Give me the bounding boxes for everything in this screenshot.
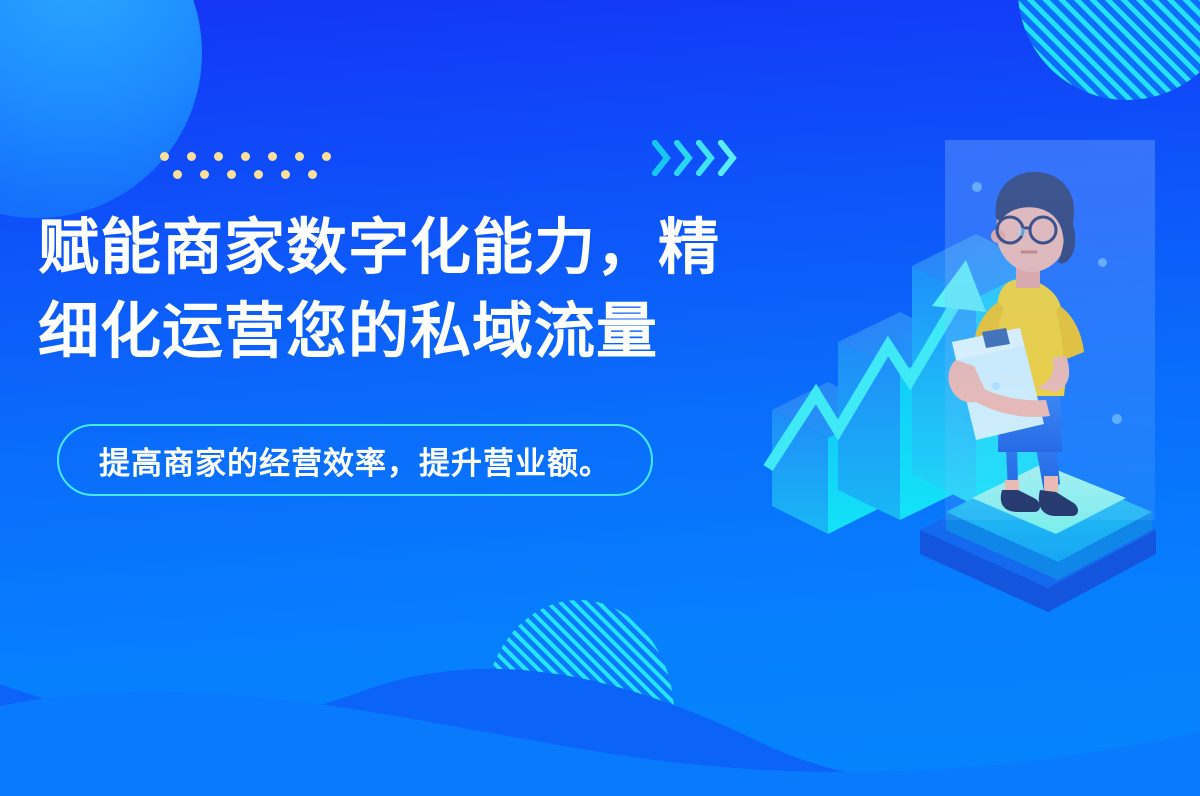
promo-banner: 赋能商家数字化能力，精 细化运营您的私域流量 提高商家的经营效率，提升营业额。 <box>0 0 1200 796</box>
dot <box>295 152 304 161</box>
dot <box>268 152 277 161</box>
striped-circle-top-right-icon <box>1018 0 1200 100</box>
dot <box>200 170 209 179</box>
chevron-right-icon <box>674 140 694 176</box>
dot-grid <box>160 152 349 179</box>
subtitle-text: 提高商家的经营效率，提升营业额。 <box>99 438 611 483</box>
dot <box>227 170 236 179</box>
floating-dot-icon <box>1098 258 1107 267</box>
dot <box>214 152 223 161</box>
dot-grid-row-top <box>160 152 349 161</box>
glow-panel <box>945 140 1155 520</box>
chevron-right-icon <box>652 140 672 176</box>
floating-dot-icon <box>992 382 1000 390</box>
dot <box>160 152 169 161</box>
dot <box>241 152 250 161</box>
growth-chart-person-illustration <box>760 120 1200 620</box>
page-title: 赋能商家数字化能力，精 细化运营您的私域流量 <box>38 206 778 373</box>
floating-dot-icon <box>1112 414 1122 424</box>
dot <box>322 152 331 161</box>
solid-circle-top-left-icon <box>0 0 202 218</box>
chevron-right-icon <box>696 140 716 176</box>
dot <box>254 170 263 179</box>
floating-dot-icon <box>1018 228 1026 236</box>
floating-dot-icon <box>972 182 982 192</box>
dot <box>281 170 290 179</box>
dot-grid-row-bottom <box>173 170 349 179</box>
chevron-right-icon <box>718 140 738 176</box>
chevron-arrows <box>652 140 740 176</box>
dot <box>173 170 182 179</box>
dot <box>308 170 317 179</box>
subtitle-badge: 提高商家的经营效率，提升营业额。 <box>57 424 653 496</box>
dot <box>187 152 196 161</box>
